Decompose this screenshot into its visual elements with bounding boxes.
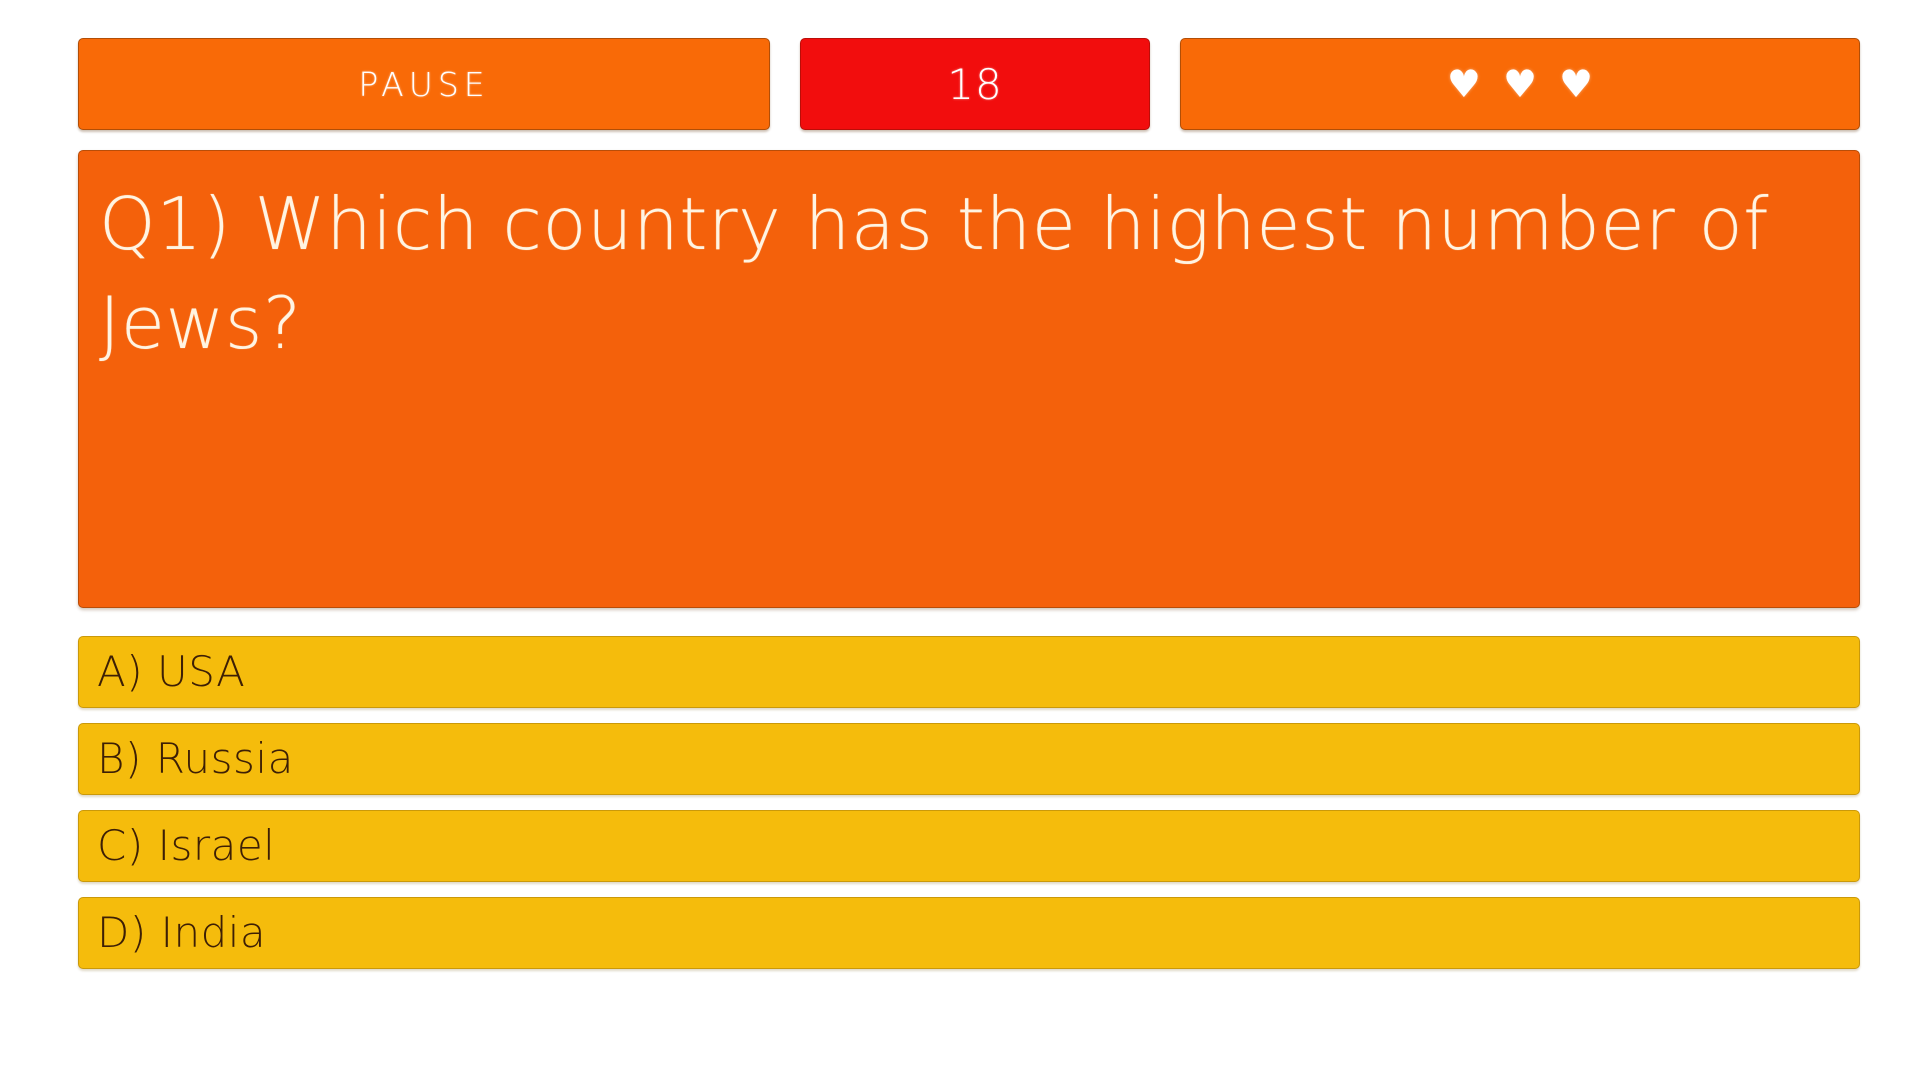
answer-option-a-label: A) USA [97, 651, 245, 693]
heart-icon: ♥ [1447, 65, 1481, 103]
answer-option-c-label: C) Israel [97, 825, 275, 867]
heart-icon: ♥ [1503, 65, 1537, 103]
question-text: Q1) Which country has the highest number… [99, 175, 1833, 374]
timer-display: 18 [800, 38, 1150, 130]
answer-option-d-label: D) India [97, 912, 266, 954]
question-panel: Q1) Which country has the highest number… [78, 150, 1860, 608]
lives-display: ♥ ♥ ♥ [1180, 38, 1860, 130]
answer-option-c[interactable]: C) Israel [78, 810, 1860, 882]
answer-options-list: A) USA B) Russia C) Israel D) India [78, 636, 1860, 969]
pause-button[interactable]: PAUSE [78, 38, 770, 130]
timer-value: 18 [947, 60, 1002, 109]
answer-option-b-label: B) Russia [97, 738, 294, 780]
pause-button-label: PAUSE [358, 65, 489, 104]
answer-option-b[interactable]: B) Russia [78, 723, 1860, 795]
heart-icon: ♥ [1559, 65, 1593, 103]
answer-option-a[interactable]: A) USA [78, 636, 1860, 708]
quiz-screen: PAUSE 18 ♥ ♥ ♥ Q1) Which country has the… [0, 0, 1920, 1080]
answer-option-d[interactable]: D) India [78, 897, 1860, 969]
lives-row: ♥ ♥ ♥ [1447, 65, 1593, 103]
hud-bar: PAUSE 18 ♥ ♥ ♥ [78, 38, 1860, 130]
